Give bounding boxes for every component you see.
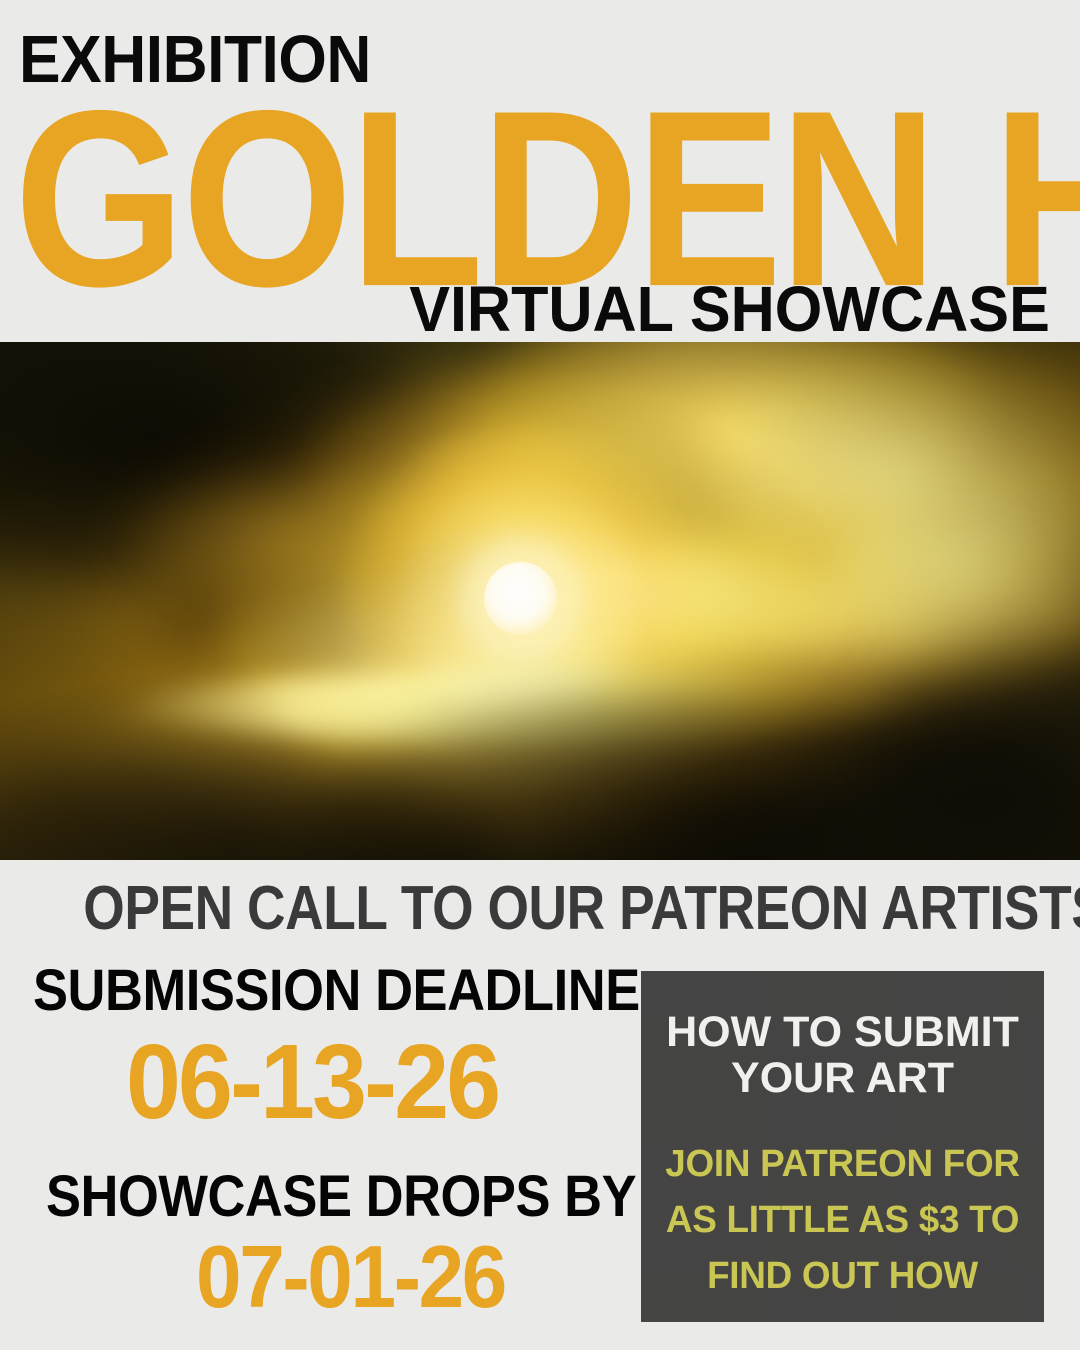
panel-body-line-1: JOIN PATREON FOR [663, 1136, 1023, 1192]
sun-disc-icon [484, 562, 557, 635]
sunset-photo [0, 342, 1080, 860]
open-call-heading: OPEN CALL TO OUR PATREON ARTISTS [0, 878, 1080, 940]
poster-subtitle: VIRTUAL SHOWCASE [409, 277, 1050, 341]
showcase-drops-date: 07-01-26 [196, 1233, 505, 1321]
submission-deadline-label: SUBMISSION DEADLINE [33, 962, 640, 1020]
panel-heading-line-2: YOUR ART [653, 1055, 1032, 1101]
panel-body-line-2: AS LITTLE AS $3 TO [663, 1192, 1023, 1248]
panel-body-line-3: FIND OUT HOW [663, 1248, 1023, 1304]
panel-heading-line-1: HOW TO SUBMIT [653, 1009, 1032, 1055]
poster-canvas: EXHIBITION GOLDEN HOUR VIRTUAL SHOWCASE … [0, 0, 1080, 1350]
how-to-submit-panel: HOW TO SUBMIT YOUR ART JOIN PATREON FOR … [641, 971, 1044, 1322]
showcase-drops-label: SHOWCASE DROPS BY [46, 1168, 636, 1226]
panel-body: JOIN PATREON FOR AS LITTLE AS $3 TO FIND… [657, 1136, 1028, 1304]
panel-heading: HOW TO SUBMIT YOUR ART [653, 1009, 1032, 1101]
open-call-text: OPEN CALL TO OUR PATREON ARTISTS [83, 878, 1080, 940]
poster-header: EXHIBITION GOLDEN HOUR VIRTUAL SHOWCASE [0, 0, 1080, 342]
submission-deadline-date: 06-13-26 [126, 1029, 498, 1135]
